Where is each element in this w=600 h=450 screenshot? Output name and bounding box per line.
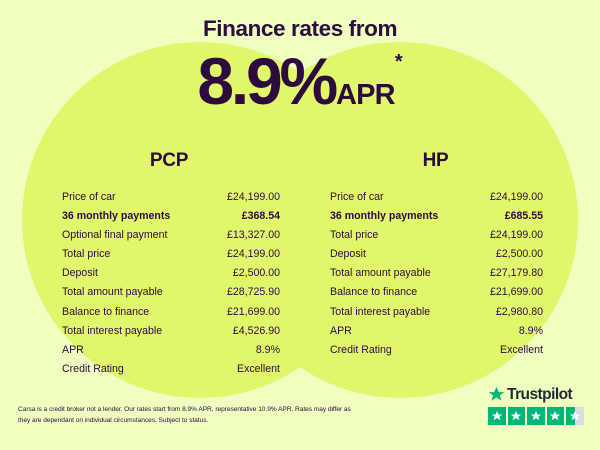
star-icon [508, 407, 526, 425]
headline-rate-value: 8.9% [197, 48, 335, 114]
table-row: Total interest payable£4,526.90 [62, 322, 280, 341]
row-label: Optional final payment [62, 226, 167, 245]
headline-asterisk: * [395, 52, 403, 72]
plan-rows-hp: Price of car£24,199.0036 monthly payment… [330, 188, 543, 360]
row-value: £2,500.00 [496, 245, 543, 264]
row-label: Total interest payable [62, 322, 162, 341]
row-value: Excellent [237, 360, 280, 379]
row-value: £24,199.00 [490, 188, 543, 207]
trustpilot-star-icon [488, 386, 505, 403]
trustpilot-star-box [566, 407, 584, 425]
row-label: Price of car [330, 188, 384, 207]
table-row: Total amount payable£27,179.80 [330, 264, 543, 283]
table-row: Price of car£24,199.00 [330, 188, 543, 207]
headline-rate-row: 8.9% APR * [0, 48, 600, 114]
row-value: £2,500.00 [233, 264, 280, 283]
trustpilot-star-box [508, 407, 526, 425]
row-value: £685.55 [505, 207, 543, 226]
table-row: Optional final payment£13,327.00 [62, 226, 280, 245]
star-icon [488, 407, 506, 425]
table-row: APR8.9% [330, 322, 543, 341]
plan-table-hp: HP Price of car£24,199.0036 monthly paym… [330, 150, 543, 360]
row-label: Deposit [62, 264, 98, 283]
trustpilot-star-box [527, 407, 545, 425]
table-row: Deposit£2,500.00 [62, 264, 280, 283]
row-label: 36 monthly payments [62, 207, 170, 226]
table-row: Price of car£24,199.00 [62, 188, 280, 207]
row-label: Total interest payable [330, 303, 430, 322]
trustpilot-wordmark-row: Trustpilot [488, 385, 586, 404]
row-value: £13,327.00 [227, 226, 280, 245]
row-value: £4,526.90 [233, 322, 280, 341]
table-row: Credit RatingExcellent [62, 360, 280, 379]
headline-block: Finance rates from 8.9% APR * [0, 18, 600, 114]
row-label: Credit Rating [330, 341, 392, 360]
row-label: Deposit [330, 245, 366, 264]
row-value: £27,179.80 [490, 264, 543, 283]
row-label: APR [62, 341, 84, 360]
row-value: £24,199.00 [227, 188, 280, 207]
headline-apr-label: APR [336, 81, 395, 110]
trustpilot-star-box [488, 407, 506, 425]
table-row: Total amount payable£28,725.90 [62, 283, 280, 302]
row-value: £21,699.00 [490, 283, 543, 302]
table-row: 36 monthly payments£685.55 [330, 207, 543, 226]
row-label: 36 monthly payments [330, 207, 438, 226]
row-label: Balance to finance [330, 283, 417, 302]
row-value: 8.9% [519, 322, 543, 341]
table-row: Credit RatingExcellent [330, 341, 543, 360]
row-value: £2,980.80 [496, 303, 543, 322]
star-icon [547, 407, 565, 425]
page-title: Finance rates from [0, 18, 600, 41]
row-label: Credit Rating [62, 360, 124, 379]
plan-rows-pcp: Price of car£24,199.0036 monthly payment… [62, 188, 280, 379]
row-label: Price of car [62, 188, 116, 207]
table-row: Total price£24,199.00 [330, 226, 543, 245]
row-label: APR [330, 322, 352, 341]
row-label: Total price [62, 245, 110, 264]
trustpilot-badge[interactable]: Trustpilot [488, 385, 586, 425]
row-value: £24,199.00 [490, 226, 543, 245]
table-row: Balance to finance£21,699.00 [62, 303, 280, 322]
table-row: Total price£24,199.00 [62, 245, 280, 264]
finance-rates-promo-card: Finance rates from 8.9% APR * PCP Price … [0, 0, 600, 450]
trustpilot-wordmark: Trustpilot [507, 386, 572, 404]
plan-heading-pcp: PCP [62, 150, 280, 172]
plan-heading-hp: HP [330, 150, 543, 172]
footer-disclaimer: Carsa is a credit broker not a lender. O… [18, 404, 358, 426]
row-value: £368.54 [242, 207, 280, 226]
table-row: Total interest payable£2,980.80 [330, 303, 543, 322]
star-icon [566, 407, 584, 425]
row-value: Excellent [500, 341, 543, 360]
table-row: APR8.9% [62, 341, 280, 360]
row-label: Total price [330, 226, 378, 245]
trustpilot-star-rating [488, 407, 586, 425]
content-layer: Finance rates from 8.9% APR * PCP Price … [0, 0, 600, 450]
row-value: £24,199.00 [227, 245, 280, 264]
trustpilot-star-box [547, 407, 565, 425]
row-label: Total amount payable [62, 283, 163, 302]
row-value: £21,699.00 [227, 303, 280, 322]
row-value: 8.9% [256, 341, 280, 360]
table-row: Deposit£2,500.00 [330, 245, 543, 264]
row-label: Balance to finance [62, 303, 149, 322]
row-value: £28,725.90 [227, 283, 280, 302]
row-label: Total amount payable [330, 264, 431, 283]
table-row: Balance to finance£21,699.00 [330, 283, 543, 302]
table-row: 36 monthly payments£368.54 [62, 207, 280, 226]
plan-table-pcp: PCP Price of car£24,199.0036 monthly pay… [62, 150, 280, 379]
star-icon [527, 407, 545, 425]
